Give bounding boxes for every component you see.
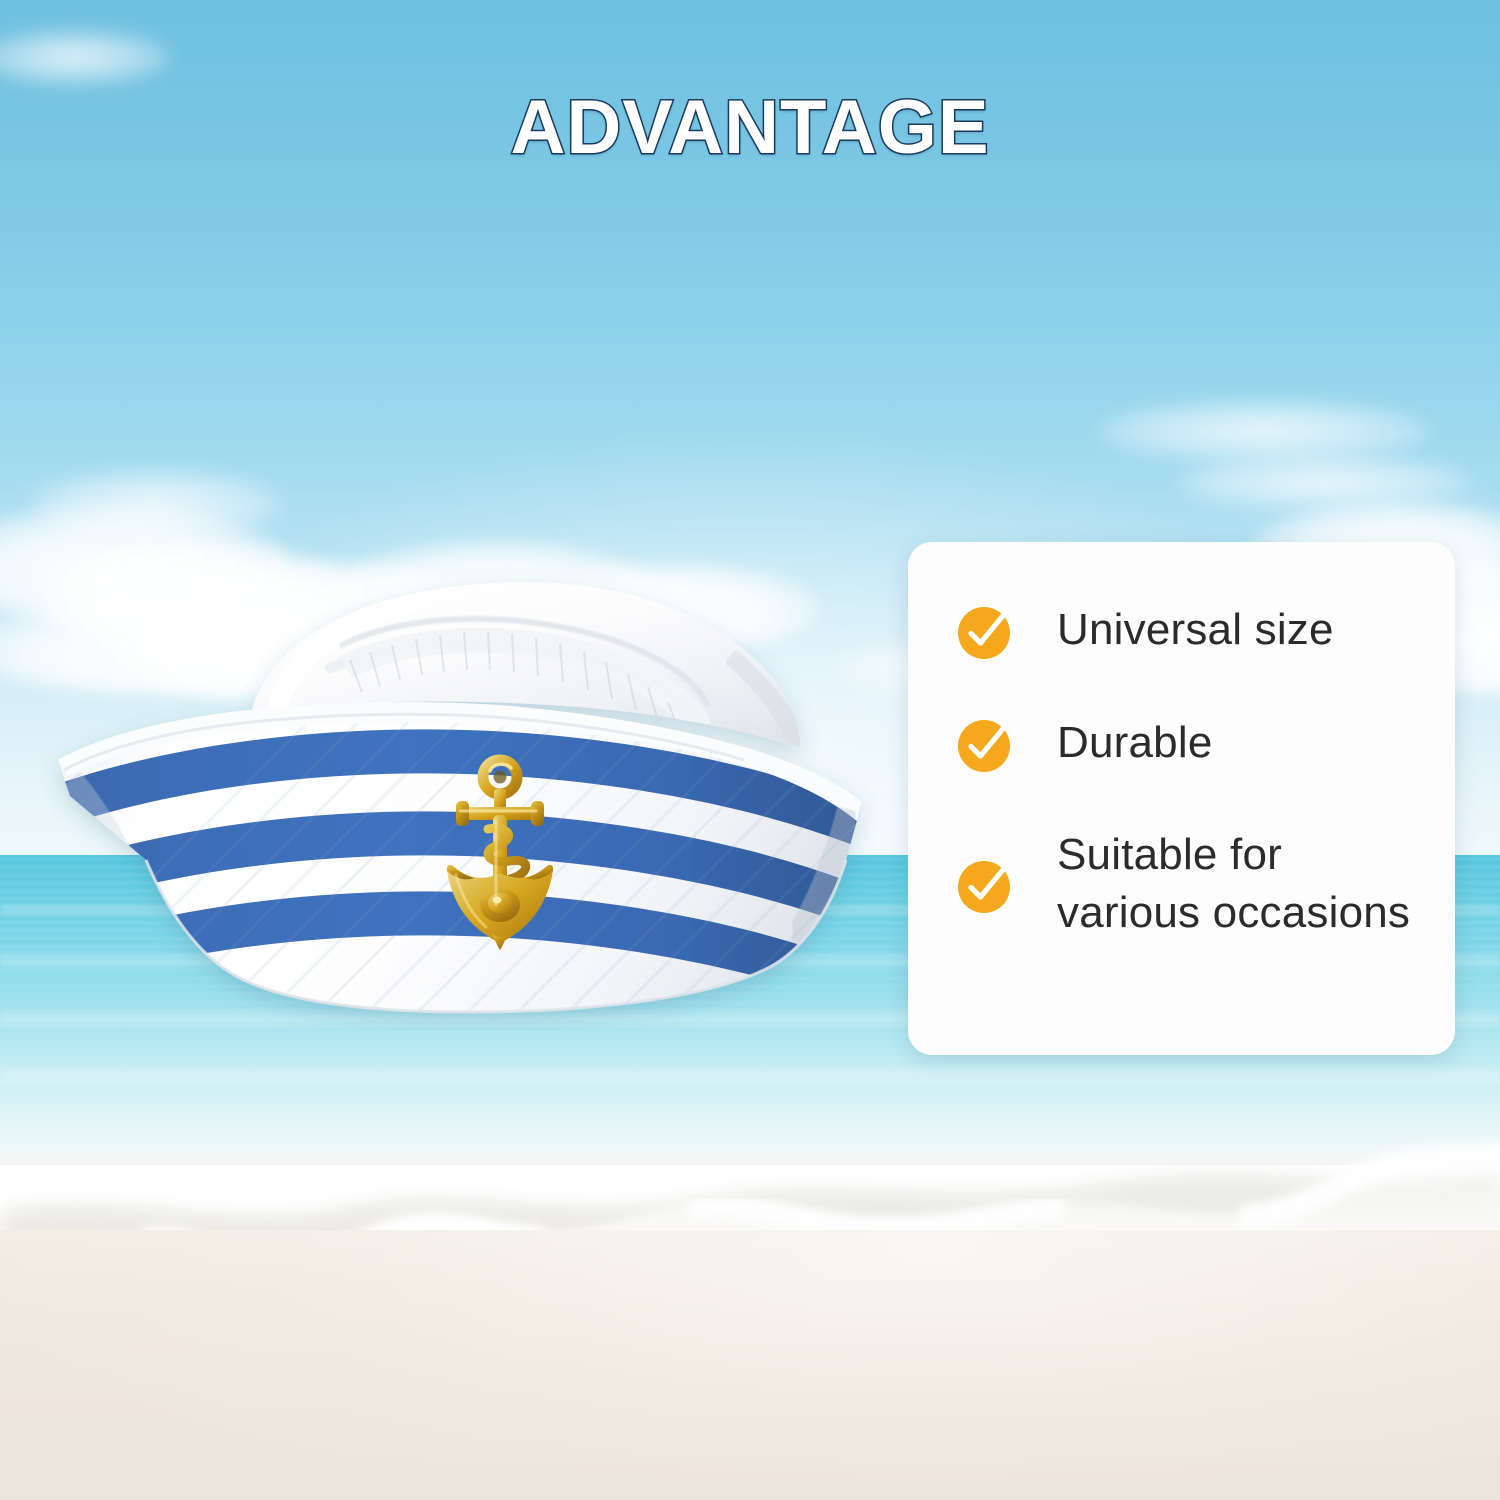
feature-item-durable: Durable <box>955 713 1421 774</box>
check-circle-icon <box>955 713 1016 774</box>
sailor-hat-product-image <box>40 560 900 1030</box>
sand-beach <box>0 1230 1500 1500</box>
product-advantage-banner: ADVANTAGE <box>0 0 1500 1500</box>
advantage-feature-card: Universal size Durable Suitable for vari… <box>908 542 1455 1055</box>
feature-item-universal-size: Universal size <box>955 600 1421 661</box>
check-circle-icon <box>955 854 1016 915</box>
feature-label: Durable <box>1057 714 1213 772</box>
feature-item-suitable-occasions: Suitable for various occasions <box>955 826 1421 942</box>
page-title: ADVANTAGE <box>0 84 1500 171</box>
check-circle-icon <box>955 600 1016 661</box>
feature-label: Universal size <box>1057 601 1334 659</box>
feature-label: Suitable for various occasions <box>1057 826 1410 942</box>
